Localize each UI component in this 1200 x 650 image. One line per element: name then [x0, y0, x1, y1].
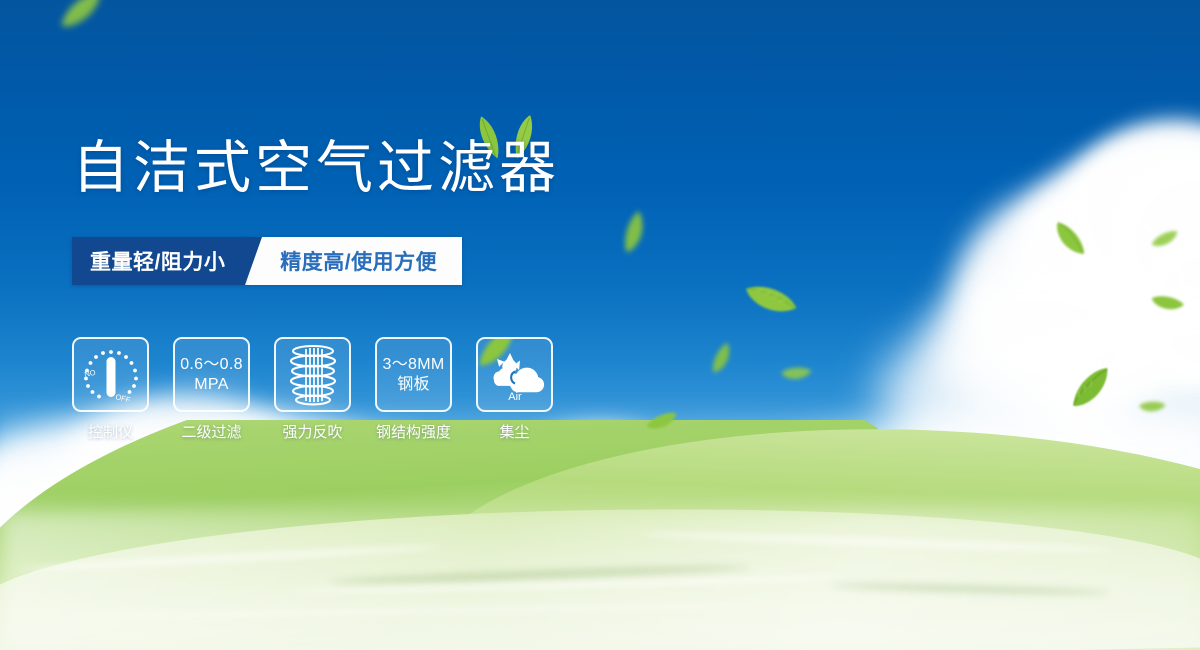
- grass-field: [0, 420, 1200, 650]
- steel-plate-value-icon: 3～8MM 钢板: [383, 355, 445, 394]
- steel-line-1: 3～8MM: [383, 355, 445, 375]
- leaf-icon: [739, 271, 802, 328]
- leaf-icon: [1149, 229, 1182, 251]
- svg-text:NO: NO: [83, 367, 96, 378]
- steel-line-2: 钢板: [383, 375, 445, 395]
- leaf-icon: [1050, 215, 1088, 262]
- leaf-icon: [779, 364, 813, 384]
- feature-icon-box: 3～8MM 钢板: [375, 337, 452, 412]
- leaf-icon: [615, 208, 655, 257]
- pressure-line-1: 0.6～0.8: [180, 355, 243, 375]
- feature-item-steel-strength[interactable]: 3～8MM 钢板 钢结构强度: [375, 337, 452, 442]
- cloud-shape: [1010, 140, 1200, 390]
- tagline-left: 重量轻/阻力小: [72, 237, 245, 285]
- cloud-shape: [1110, 155, 1200, 325]
- feature-item-dust-collection[interactable]: Air 集尘: [476, 337, 553, 442]
- leaf-icon: [704, 340, 740, 378]
- feature-icon-box: [274, 337, 351, 412]
- feature-list: NO OFF 控制仪 0.6～0.8 MPA 二级过滤: [72, 337, 553, 442]
- feature-label: 二级过滤: [181, 421, 241, 442]
- svg-text:OFF: OFF: [114, 392, 131, 404]
- feature-item-control-unit[interactable]: NO OFF 控制仪: [72, 337, 149, 442]
- feature-label: 集尘: [499, 421, 529, 442]
- cloud-shape: [1135, 235, 1200, 385]
- cloud-shape: [955, 185, 1200, 405]
- leaf-icon: [1148, 289, 1186, 318]
- cloud-shape: [930, 260, 1160, 430]
- feature-icon-box: Air: [476, 337, 553, 412]
- cloud-shape: [1065, 120, 1200, 310]
- leaf-icon: [52, 0, 112, 35]
- pressure-line-2: MPA: [180, 375, 243, 395]
- leaf-icon: [1137, 398, 1167, 417]
- feature-label: 强力反吹: [282, 421, 342, 442]
- cloud-air-icon: Air: [484, 347, 546, 403]
- product-hero-banner: 自洁式空气过滤器 重量轻/阻力小 精度高/使用方便: [0, 0, 1200, 650]
- tagline-right: 精度高/使用方便: [245, 237, 462, 285]
- filter-coil-icon: [285, 344, 341, 406]
- feature-item-secondary-filtration[interactable]: 0.6～0.8 MPA 二级过滤: [173, 337, 250, 442]
- air-label: Air: [508, 391, 522, 403]
- dial-gauge-icon: NO OFF: [79, 346, 143, 404]
- pressure-value-icon: 0.6～0.8 MPA: [180, 355, 243, 394]
- page-title: 自洁式空气过滤器: [72, 140, 560, 197]
- feature-icon-box: 0.6～0.8 MPA: [173, 337, 250, 412]
- leaf-icon: [1062, 363, 1121, 414]
- feature-label: 控制仪: [88, 421, 133, 442]
- feature-icon-box: NO OFF: [72, 337, 149, 412]
- feature-label: 钢结构强度: [376, 421, 451, 442]
- feature-item-strong-blowback[interactable]: 强力反吹: [274, 337, 351, 442]
- tagline-bar: 重量轻/阻力小 精度高/使用方便: [72, 237, 462, 285]
